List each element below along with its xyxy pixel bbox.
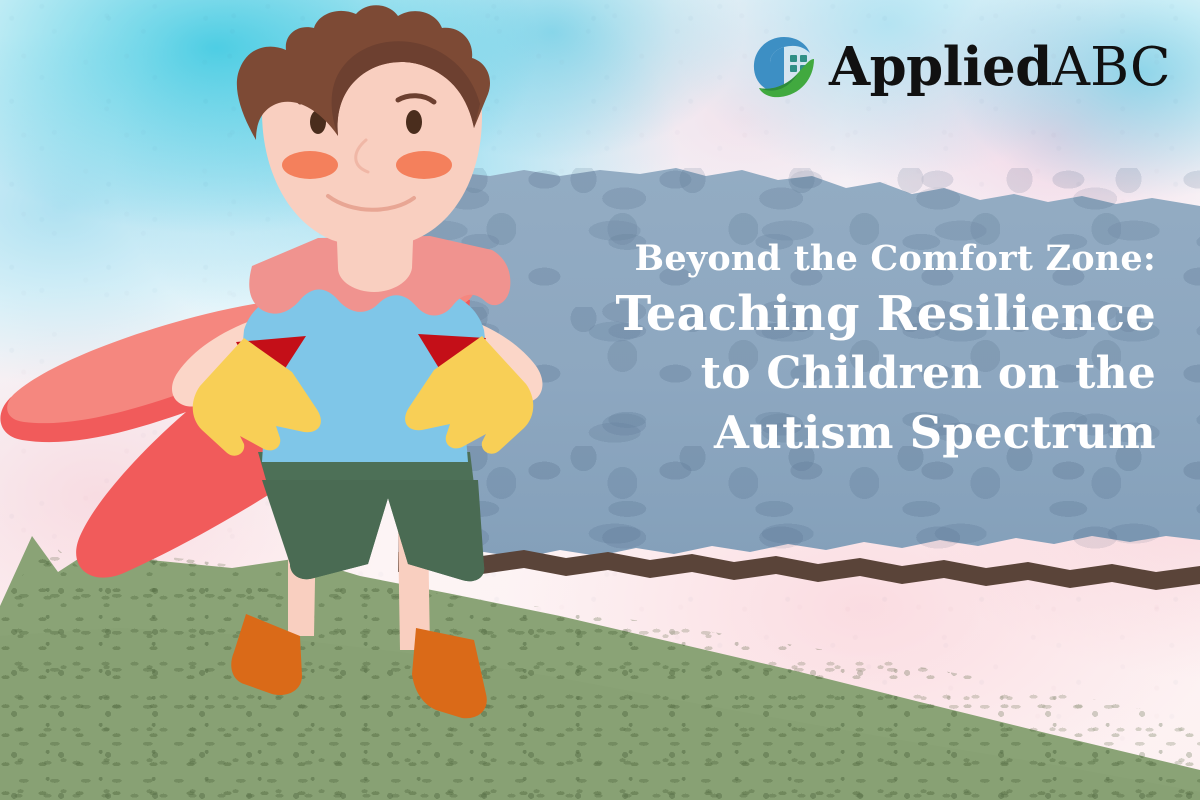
title-line-1: Beyond the Comfort Zone: xyxy=(526,234,1156,284)
logo-brand-primary: Applied xyxy=(829,36,1052,98)
house-leaf-icon xyxy=(748,33,820,105)
title-line-4: Autism Spectrum xyxy=(526,403,1156,462)
applied-abc-logo[interactable]: AppliedABC xyxy=(748,33,1171,105)
title-line-2: Teaching Resilience xyxy=(526,284,1156,344)
logo-wordmark: AppliedABC xyxy=(829,41,1171,98)
article-title: Beyond the Comfort Zone: Teaching Resili… xyxy=(526,234,1156,462)
blog-banner: Beyond the Comfort Zone: Teaching Resili… xyxy=(0,0,1200,800)
logo-brand-secondary: ABC xyxy=(1052,37,1171,98)
title-line-3: to Children on the xyxy=(526,344,1156,403)
